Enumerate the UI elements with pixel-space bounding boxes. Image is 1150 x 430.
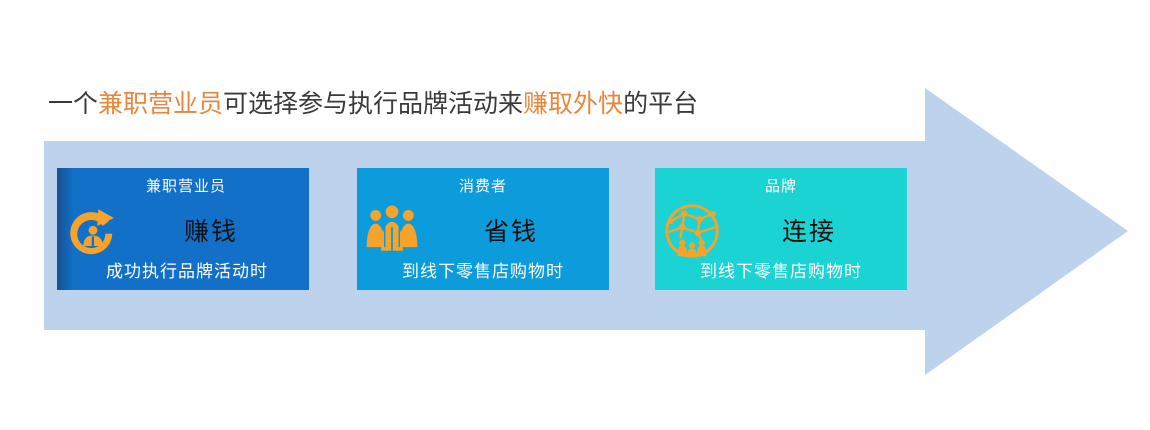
card-consumer[interactable]: 消费者 省钱 到线下零售店购物时 [357,168,609,290]
card-header-label: 品牌 [655,175,907,196]
card-header-label: 消费者 [357,175,609,196]
card-brand[interactable]: 品牌 连接 到线下零售店购物时 [655,168,907,290]
headline-segment-3-highlight: 赚取外快 [523,91,623,118]
card-footer-label: 到线下零售店购物时 [357,257,609,282]
card-footer-label: 到线下零售店购物时 [655,257,907,282]
headline-segment-0: 一个 [48,91,98,118]
card-main-label: 省钱 [413,212,609,248]
headline-segment-4: 的平台 [623,91,698,118]
headline-segment-1-highlight: 兼职营业员 [98,91,223,118]
headline-segment-2: 可选择参与执行品牌活动来 [223,91,523,118]
page-title: 一个兼职营业员可选择参与执行品牌活动来赚取外快的平台 [48,88,698,122]
card-main-label: 连接 [711,212,907,248]
card-part-time-salesperson[interactable]: 兼职营业员 赚钱 成功执行品牌活动时 [57,168,309,290]
card-footer-label: 成功执行品牌活动时 [57,257,309,282]
card-header-label: 兼职营业员 [57,175,309,196]
card-main-label: 赚钱 [113,212,309,248]
